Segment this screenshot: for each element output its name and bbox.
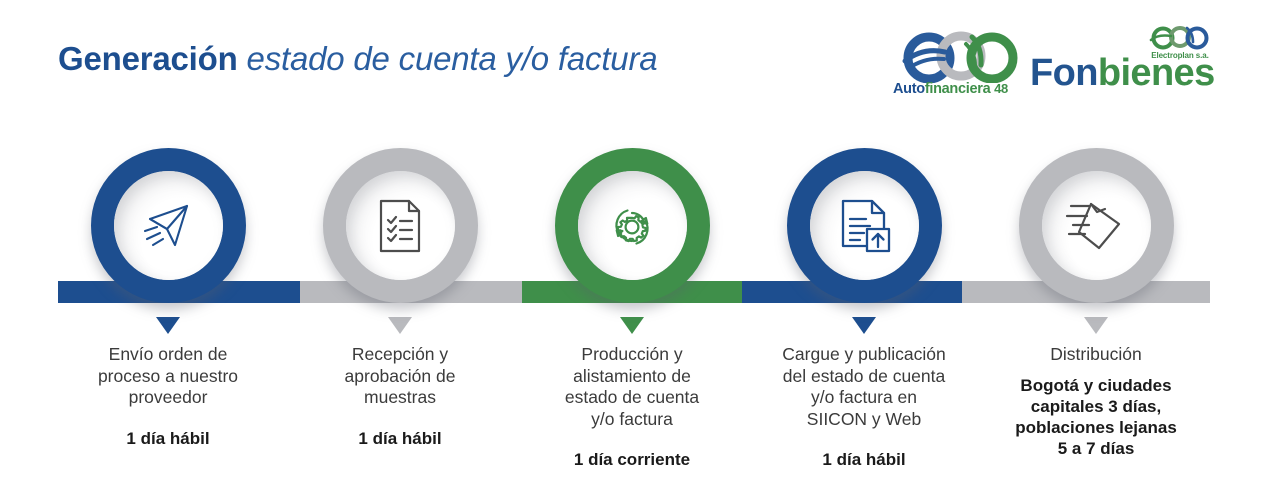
step-5-icon-disc <box>1042 171 1151 280</box>
logo-fonbienes: Fonbienes <box>1030 52 1215 95</box>
checklist-document-icon <box>371 195 429 257</box>
step-1-marker-triangle <box>156 317 180 334</box>
step-4-caption: Cargue y publicación del estado de cuent… <box>748 344 980 430</box>
step-4-icon-disc <box>810 171 919 280</box>
step-5-duration: Bogotá y ciudades capitales 3 días, pobl… <box>980 375 1212 459</box>
step-3[interactable]: Producción y alistamiento de estado de c… <box>516 148 748 470</box>
step-1-duration: 1 día hábil <box>52 428 284 449</box>
step-2[interactable]: Recepción y aprobación de muestras 1 día… <box>284 148 516 449</box>
autofinanciera-badge-48: 48 <box>994 81 1008 96</box>
step-2-caption: Recepción y aprobación de muestras <box>284 344 516 409</box>
step-4-marker-triangle <box>852 317 876 334</box>
step-2-marker-triangle <box>388 317 412 334</box>
step-2-icon-disc <box>346 171 455 280</box>
step-4-duration: 1 día hábil <box>748 449 980 470</box>
step-5-ring-wrap <box>1019 148 1174 303</box>
step-5[interactable]: Distribución Bogotá y ciudades capitales… <box>980 148 1212 459</box>
autofinanciera-rings-icon <box>899 31 1023 83</box>
autofinanciera-word-auto: Auto <box>893 81 925 97</box>
fonbienes-word-fon: Fon <box>1030 52 1098 94</box>
step-5-marker-triangle <box>1084 317 1108 334</box>
autofinanciera-wordmark: Autofinanciera 48 <box>893 81 1023 97</box>
step-5-caption: Distribución <box>980 344 1212 366</box>
delivery-package-icon <box>1063 196 1129 256</box>
infographic-canvas: Generación estado de cuenta y/o factura … <box>0 0 1266 500</box>
step-3-icon-disc <box>578 171 687 280</box>
logo-autofinanciera: Autofinanciera 48 <box>893 31 1023 103</box>
step-1-caption: Envío orden de proceso a nuestro proveed… <box>52 344 284 409</box>
step-1-ring-wrap <box>91 148 246 303</box>
paper-plane-send-icon <box>137 195 199 257</box>
fonbienes-word-bienes: bienes <box>1098 52 1215 94</box>
step-3-marker-triangle <box>620 317 644 334</box>
page-title-italic: estado de cuenta y/o factura <box>247 40 658 77</box>
document-upload-icon <box>834 195 894 257</box>
gear-refresh-cycle-icon <box>600 195 664 257</box>
step-3-ring-wrap <box>555 148 710 303</box>
electroplan-rings-icon <box>1141 26 1219 52</box>
step-4[interactable]: Cargue y publicación del estado de cuent… <box>748 148 980 470</box>
step-3-caption: Producción y alistamiento de estado de c… <box>516 344 748 430</box>
step-4-ring-wrap <box>787 148 942 303</box>
step-1[interactable]: Envío orden de proceso a nuestro proveed… <box>52 148 284 449</box>
step-2-ring-wrap <box>323 148 478 303</box>
autofinanciera-word-financiera: financiera <box>925 81 991 97</box>
page-title-bold: Generación <box>58 40 238 77</box>
page-title: Generación estado de cuenta y/o factura <box>58 40 657 78</box>
step-3-duration: 1 día corriente <box>516 449 748 470</box>
step-2-duration: 1 día hábil <box>284 428 516 449</box>
step-1-icon-disc <box>114 171 223 280</box>
